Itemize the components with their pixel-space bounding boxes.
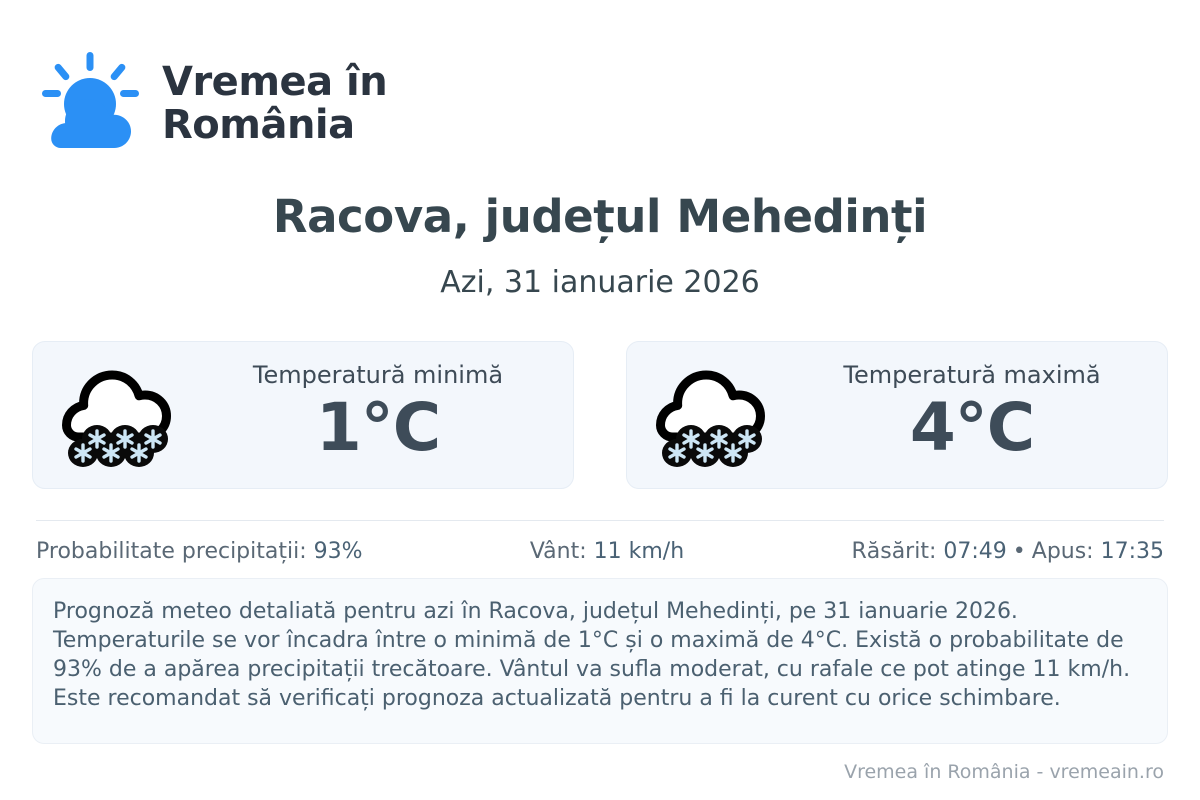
stats-row: Probabilitate precipitații: 93% Vânt: 11… xyxy=(36,538,1164,567)
min-temperature-label: Temperatură minimă xyxy=(253,361,503,390)
precipitation-stat: Probabilitate precipitații: 93% xyxy=(36,538,363,567)
stat-separator: • xyxy=(1007,539,1032,564)
min-temperature-value: 1°C xyxy=(316,391,440,465)
sunrise-label: Răsărit: xyxy=(851,539,943,564)
temperature-cards: Temperatură minimă 1°C xyxy=(32,341,1168,489)
stats-divider xyxy=(36,520,1164,521)
max-temperature-text: Temperatură maximă 4°C xyxy=(795,361,1149,466)
wind-stat: Vânt: 11 km/h xyxy=(363,538,852,567)
precipitation-value: 93% xyxy=(314,539,363,564)
max-temperature-card: Temperatură maximă 4°C xyxy=(626,341,1168,489)
forecast-description-text: Prognoză meteo detaliată pentru azi în R… xyxy=(53,597,1141,713)
sunset-value: 17:35 xyxy=(1101,539,1164,564)
wind-label: Vânt: xyxy=(530,539,594,564)
sun-cloud-icon xyxy=(36,52,144,156)
page-subtitle: Azi, 31 ianuarie 2026 xyxy=(0,265,1200,301)
snow-cloud-icon xyxy=(649,357,781,473)
sun-times-stat: Răsărit: 07:49•Apus: 17:35 xyxy=(851,538,1164,567)
page-title: Racova, județul Mehedinți xyxy=(0,190,1200,243)
min-temperature-card: Temperatură minimă 1°C xyxy=(32,341,574,489)
sunrise-value: 07:49 xyxy=(943,539,1006,564)
wind-value: 11 km/h xyxy=(594,539,685,564)
footer-credit: Vremea în România - vremeain.ro xyxy=(0,760,1164,785)
max-temperature-label: Temperatură maximă xyxy=(843,361,1100,390)
brand-name: Vremea în România xyxy=(162,61,387,147)
precipitation-label: Probabilitate precipitații: xyxy=(36,539,314,564)
snow-cloud-icon xyxy=(55,357,187,473)
weather-page: Vremea în România Racova, județul Mehedi… xyxy=(0,0,1200,800)
max-temperature-value: 4°C xyxy=(910,391,1034,465)
min-temperature-text: Temperatură minimă 1°C xyxy=(201,361,555,466)
sunset-label: Apus: xyxy=(1032,539,1101,564)
brand-header[interactable]: Vremea în România xyxy=(36,52,387,156)
forecast-description-box: Prognoză meteo detaliată pentru azi în R… xyxy=(32,578,1168,744)
title-block: Racova, județul Mehedinți Azi, 31 ianuar… xyxy=(0,190,1200,301)
